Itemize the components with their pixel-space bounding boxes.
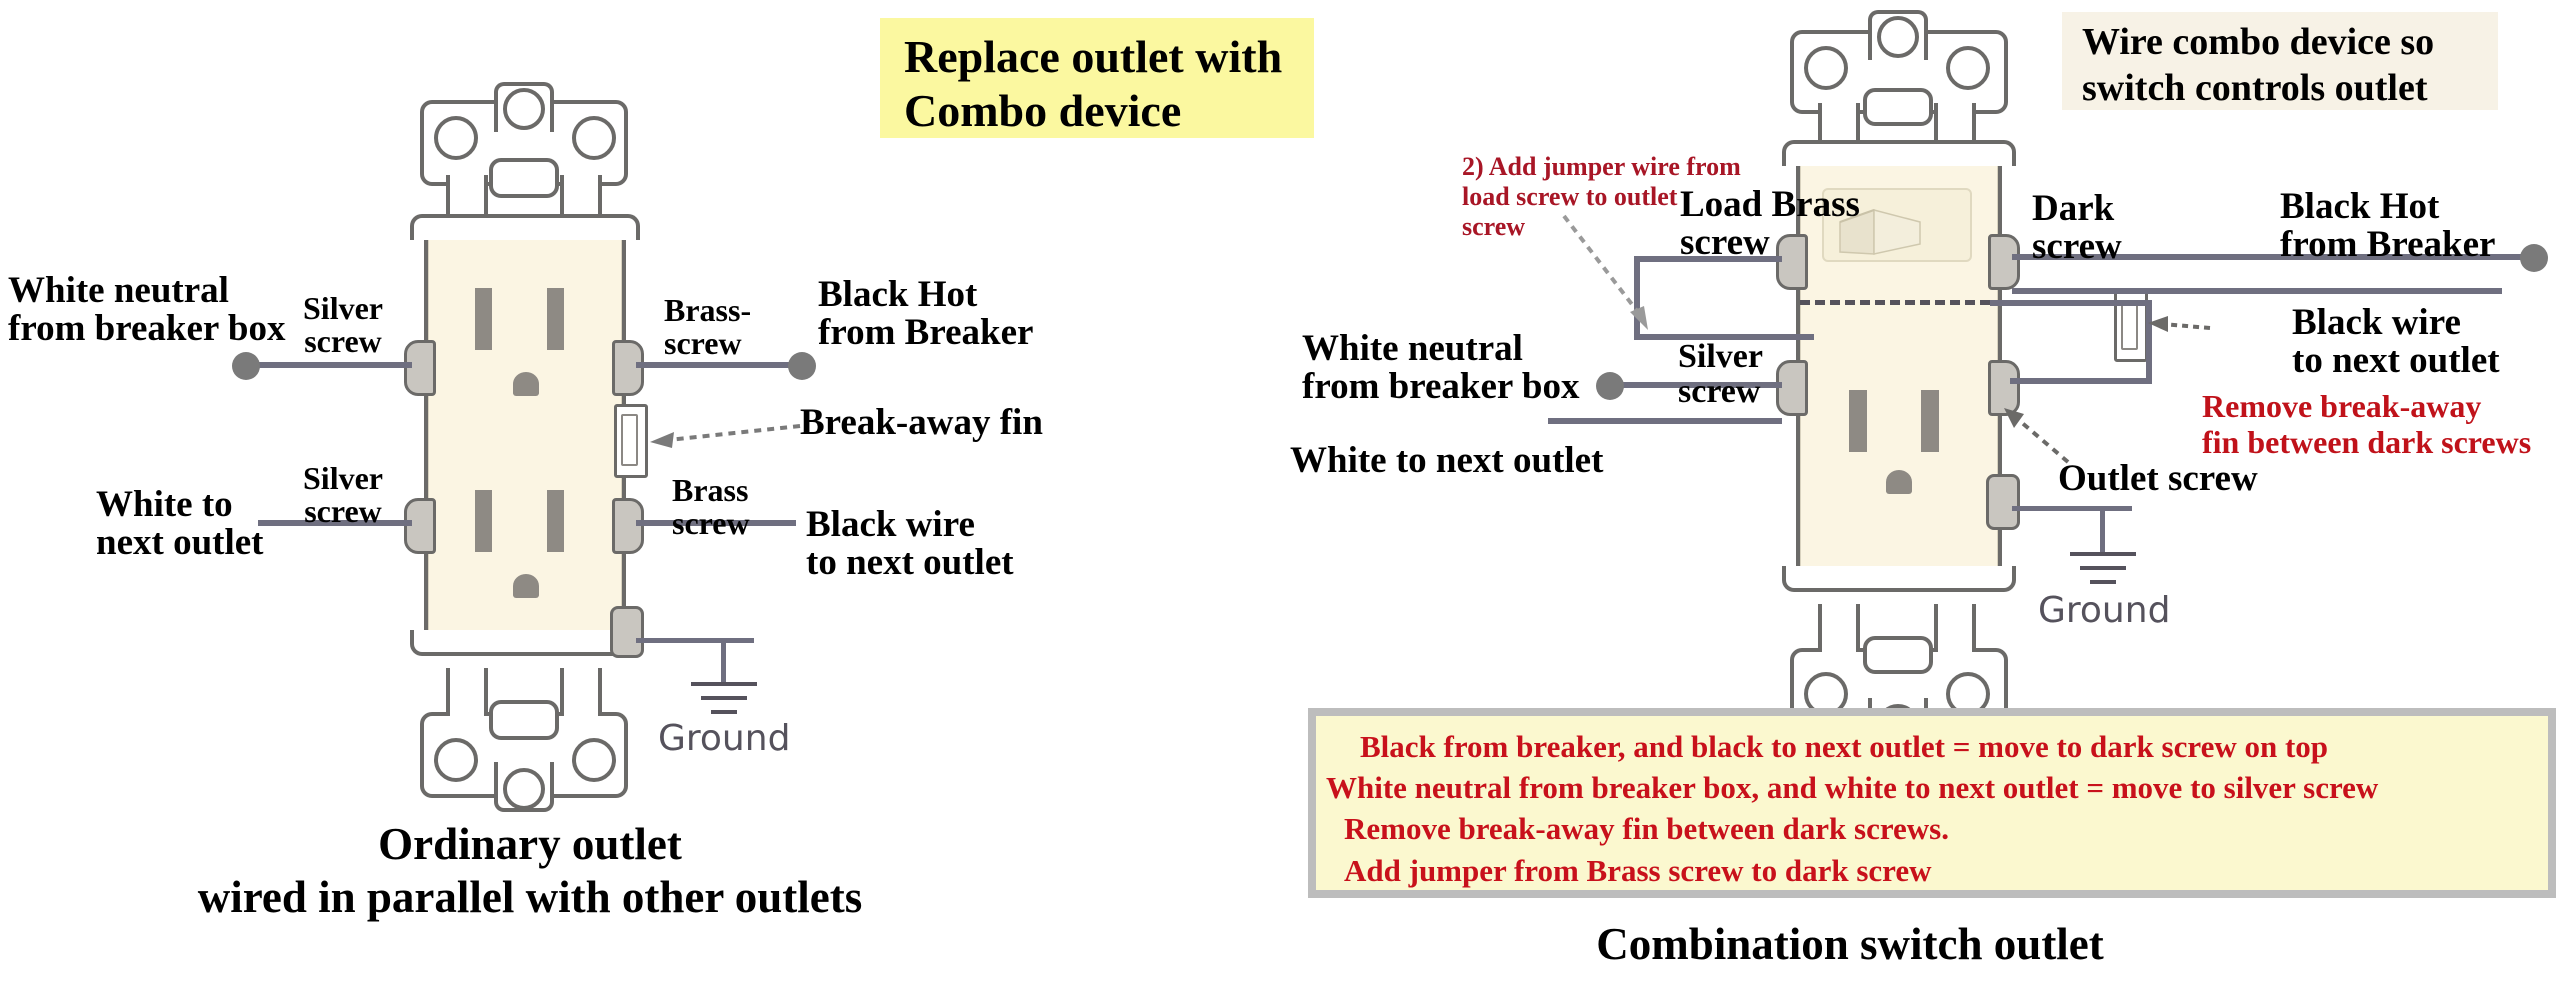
ground-wire-vertical bbox=[721, 638, 726, 682]
instruction-line-4: Add jumper from Brass screw to dark scre… bbox=[1324, 850, 2540, 891]
bottom-strap-hole-center bbox=[503, 768, 545, 810]
outlet-slot-top-left bbox=[475, 288, 492, 350]
combo-outlet-slot-right bbox=[1921, 390, 1939, 452]
label-white-neutral: White neutral from breaker box bbox=[8, 272, 285, 347]
ground-symbol-bar2 bbox=[701, 696, 747, 700]
outlet-slot-bottom-right bbox=[547, 490, 564, 552]
combo-ground-symbol-bar2 bbox=[2080, 566, 2126, 570]
wire-black-hot-end bbox=[788, 352, 816, 380]
outlet-slot-bottom-left bbox=[475, 490, 492, 552]
label-black-hot: Black Hot from Breaker bbox=[818, 276, 1033, 351]
break-away-fin-inner bbox=[621, 414, 638, 466]
silver-screw-bottom-left[interactable] bbox=[404, 498, 436, 554]
jumper-note-arrow bbox=[1548, 208, 1668, 336]
label-brass-screw-top: Brass- screw bbox=[664, 294, 751, 359]
bottom-strap-hole-right bbox=[572, 738, 616, 782]
combo-bottom-strap-neck-right bbox=[1934, 604, 1976, 652]
combo-strap-hole-right bbox=[1946, 46, 1990, 90]
wire-white-neutral-end bbox=[232, 352, 260, 380]
break-away-fin-arrow bbox=[640, 412, 806, 456]
detached-break-away-fin-inner bbox=[2121, 300, 2138, 350]
dark-screw[interactable] bbox=[1988, 234, 2020, 290]
outlet-body-outer-ear-bottom bbox=[410, 630, 640, 656]
brass-screw-top-right[interactable] bbox=[612, 340, 644, 396]
combo-ground-symbol-bar1 bbox=[2070, 552, 2136, 556]
outlet-ground-slot-bottom bbox=[513, 574, 539, 598]
ground-symbol-bar1 bbox=[691, 682, 757, 686]
ground-screw[interactable] bbox=[610, 606, 644, 658]
combo-outlet-slot-left bbox=[1849, 390, 1867, 452]
outlet-slot-top-right bbox=[547, 288, 564, 350]
label-break-away-fin: Break-away fin bbox=[800, 404, 1043, 442]
combo-bottom-strap-center-slot bbox=[1863, 636, 1933, 674]
remove-fin-arrow bbox=[2138, 308, 2214, 344]
outlet-feed-top bbox=[1990, 300, 2152, 306]
instruction-line-2: White neutral from breaker box, and whit… bbox=[1324, 767, 2540, 808]
outlet-feed-bottom bbox=[2010, 378, 2152, 384]
combo-ground-wire-vertical bbox=[2100, 506, 2105, 552]
label-combo-silver-screw: Silver screw bbox=[1678, 340, 1763, 409]
label-load-brass-screw: Load Brass screw bbox=[1680, 186, 1860, 261]
ground-wire-horizontal bbox=[636, 638, 754, 643]
outlet-body-outer-ear bbox=[410, 214, 640, 240]
combo-strap-hole-left bbox=[1804, 46, 1848, 90]
label-silver-screw-bottom: Silver screw bbox=[303, 462, 383, 527]
label-combo-black-next: Black wire to next outlet bbox=[2292, 304, 2500, 379]
brass-screw-bottom-right[interactable] bbox=[612, 498, 644, 554]
ground-label: Ground bbox=[658, 718, 790, 759]
combo-body-ear-bottom bbox=[1782, 566, 2016, 592]
outlet-screw-arrow bbox=[1990, 400, 2080, 474]
combo-wire-white-neutral-end bbox=[1596, 372, 1624, 400]
label-combo-white-next: White to next outlet bbox=[1290, 442, 1603, 480]
instruction-panel: Black from breaker, and black to next ou… bbox=[1308, 708, 2556, 898]
label-combo-white-neutral: White neutral from breaker box bbox=[1302, 330, 1579, 405]
label-silver-screw-top: Silver screw bbox=[303, 292, 383, 357]
combo-ground-screw[interactable] bbox=[1986, 474, 2020, 530]
label-brass-screw-bottom: Brass screw bbox=[672, 474, 750, 539]
combo-wire-black-next bbox=[2012, 288, 2502, 294]
bottom-strap-center-slot bbox=[489, 700, 559, 740]
label-combo-black-hot: Black Hot from Breaker bbox=[2280, 188, 2495, 263]
instruction-line-1: Black from breaker, and black to next ou… bbox=[1324, 726, 2540, 767]
ground-symbol-bar3 bbox=[711, 710, 737, 714]
combo-bottom-strap-neck-left bbox=[1818, 604, 1860, 652]
wire-white-neutral bbox=[248, 362, 412, 368]
label-white-to-next-outlet: White to next outlet bbox=[96, 486, 264, 561]
combo-body-ear-top bbox=[1782, 140, 2016, 166]
label-dark-screw: Dark screw bbox=[2032, 190, 2122, 265]
outlet-ground-slot-top bbox=[513, 372, 539, 396]
combo-ground-label: Ground bbox=[2038, 590, 2170, 631]
instruction-line-3: Remove break-away fin between dark screw… bbox=[1324, 808, 2540, 849]
wire-black-hot bbox=[636, 362, 798, 368]
strap-hole-left bbox=[434, 116, 478, 160]
strap-center-slot bbox=[489, 158, 559, 198]
combo-wire-white-next bbox=[1548, 418, 1782, 424]
left-diagram-caption: Ordinary outlet wired in parallel with o… bbox=[180, 818, 880, 924]
combo-half-divider bbox=[1800, 300, 1990, 305]
left-caption-line-1: Ordinary outlet bbox=[180, 818, 880, 871]
combo-strap-center-slot bbox=[1863, 88, 1933, 126]
combo-wire-black-hot-end bbox=[2520, 244, 2548, 272]
bottom-strap-neck-right bbox=[560, 668, 602, 716]
combo-ground-wire-horizontal bbox=[2012, 506, 2132, 511]
bottom-strap-hole-left bbox=[434, 738, 478, 782]
right-diagram-caption: Combination switch outlet bbox=[1430, 918, 2270, 970]
left-caption-line-2: wired in parallel with other outlets bbox=[180, 871, 880, 924]
combo-strap-hole-center bbox=[1877, 16, 1919, 58]
combo-ground-symbol-bar3 bbox=[2090, 580, 2116, 584]
silver-screw-top-left[interactable] bbox=[404, 340, 436, 396]
silver-screw[interactable] bbox=[1776, 360, 1808, 416]
strap-hole-right bbox=[572, 116, 616, 160]
label-black-to-next-outlet: Black wire to next outlet bbox=[806, 506, 1014, 581]
strap-hole-center bbox=[503, 88, 545, 130]
label-outlet-screw: Outlet screw bbox=[2058, 460, 2258, 498]
instruction-panel-inner: Black from breaker, and black to next ou… bbox=[1316, 716, 2548, 890]
bottom-strap-neck-left bbox=[446, 668, 488, 716]
label-remove-fin: Remove break-away fin between dark screw… bbox=[2202, 388, 2531, 461]
combo-outlet-ground-slot bbox=[1886, 470, 1912, 494]
